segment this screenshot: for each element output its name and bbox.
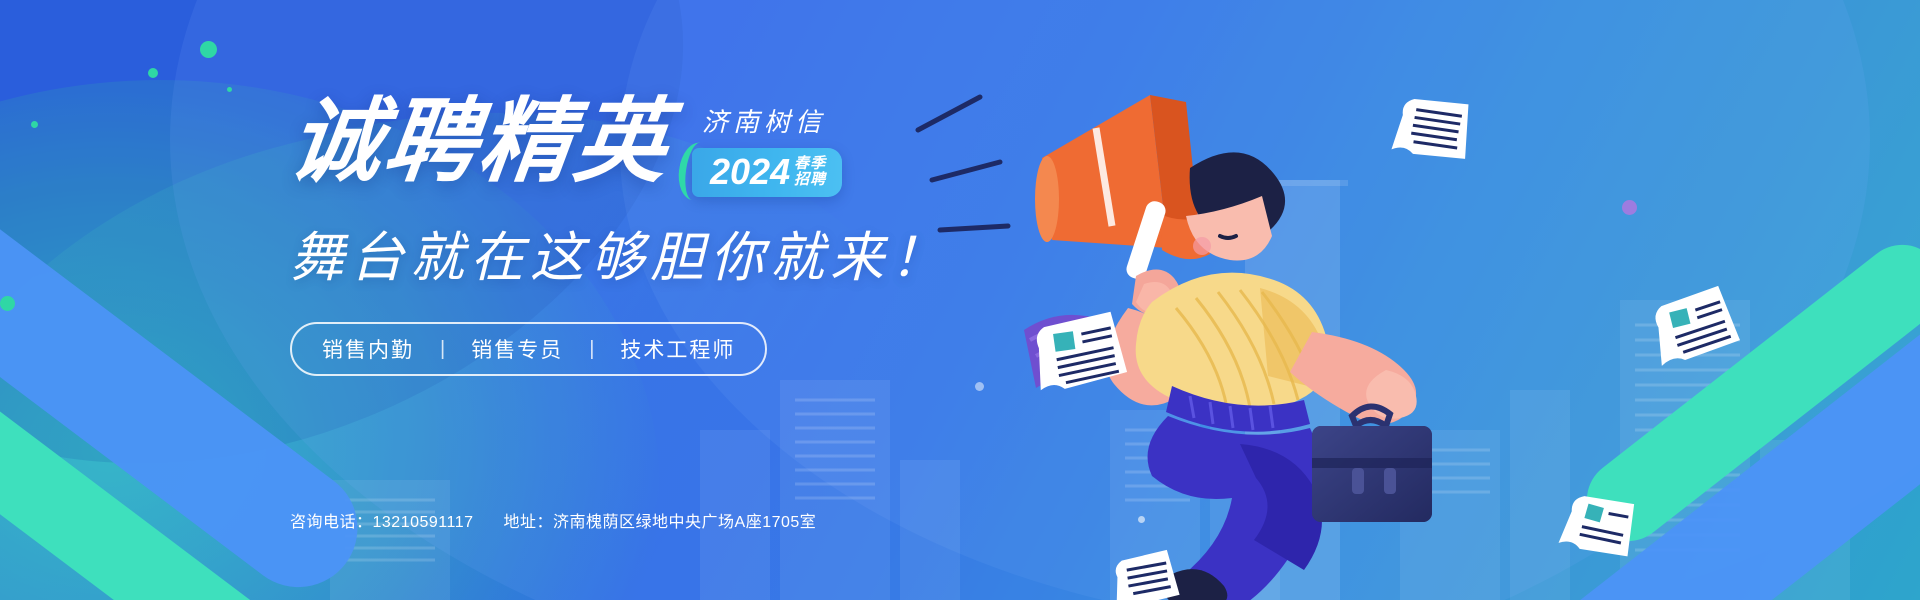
decor-dot-green: [0, 296, 15, 311]
megaphone-icon: [1035, 95, 1210, 281]
flying-resume-paper: [1648, 286, 1748, 377]
decor-dot-green: [31, 121, 38, 128]
badge-line-2: 招聘: [794, 172, 826, 188]
decor-dot-green: [227, 87, 232, 92]
flying-resume-paper: [1558, 490, 1644, 573]
contact-address: 地址：济南槐荫区绿地中央广场A座1705室: [504, 508, 817, 532]
job-tags-pill: 销售内勤 | 销售专员 | 技术工程师: [290, 322, 767, 376]
contact-phone: 咨询电话：13210591117: [290, 508, 474, 532]
job-tag-separator: |: [589, 338, 594, 361]
decor-dot-green: [148, 68, 158, 78]
badge-line-1: 春季: [794, 156, 826, 172]
page-subtitle: 舞台就在这够胆你就来！: [290, 213, 1050, 292]
badge-subtext: 春季 招聘: [794, 156, 826, 188]
person-shirt: [1136, 273, 1330, 414]
job-tag-2[interactable]: 技术工程师: [620, 334, 735, 364]
person-left-arm: [1290, 332, 1417, 424]
banner-copy-block: 诚聘精英 济南树信 2024 春季 招聘 舞台就在这够胆你就来！ 销售内勤 | …: [290, 96, 1050, 376]
badge-accent-swoosh: [675, 140, 712, 201]
job-tag-1[interactable]: 销售专员: [471, 334, 563, 364]
flying-resume-paper: [1390, 92, 1480, 177]
brand-badge-group: 济南树信 2024 春季 招聘: [692, 102, 842, 197]
headline-row: 诚聘精英 济南树信 2024 春季 招聘: [290, 96, 1050, 197]
contact-info: 咨询电话：13210591117 地址：济南槐荫区绿地中央广场A座1705室: [290, 508, 816, 532]
flying-resume-paper: [1108, 546, 1188, 600]
job-tag-separator: |: [440, 338, 445, 361]
badge-year: 2024: [710, 154, 790, 190]
recruitment-banner: 诚聘精英 济南树信 2024 春季 招聘 舞台就在这够胆你就来！ 销售内勤 | …: [0, 0, 1920, 600]
briefcase-icon: [1312, 406, 1432, 522]
job-tag-0[interactable]: 销售内勤: [322, 334, 414, 364]
page-title: 诚聘精英: [284, 96, 675, 188]
decor-dot-green: [200, 41, 217, 58]
brand-name: 济南树信: [692, 102, 842, 139]
decor-dot-purple: [1622, 200, 1637, 215]
season-badge: 2024 春季 招聘: [692, 148, 842, 197]
